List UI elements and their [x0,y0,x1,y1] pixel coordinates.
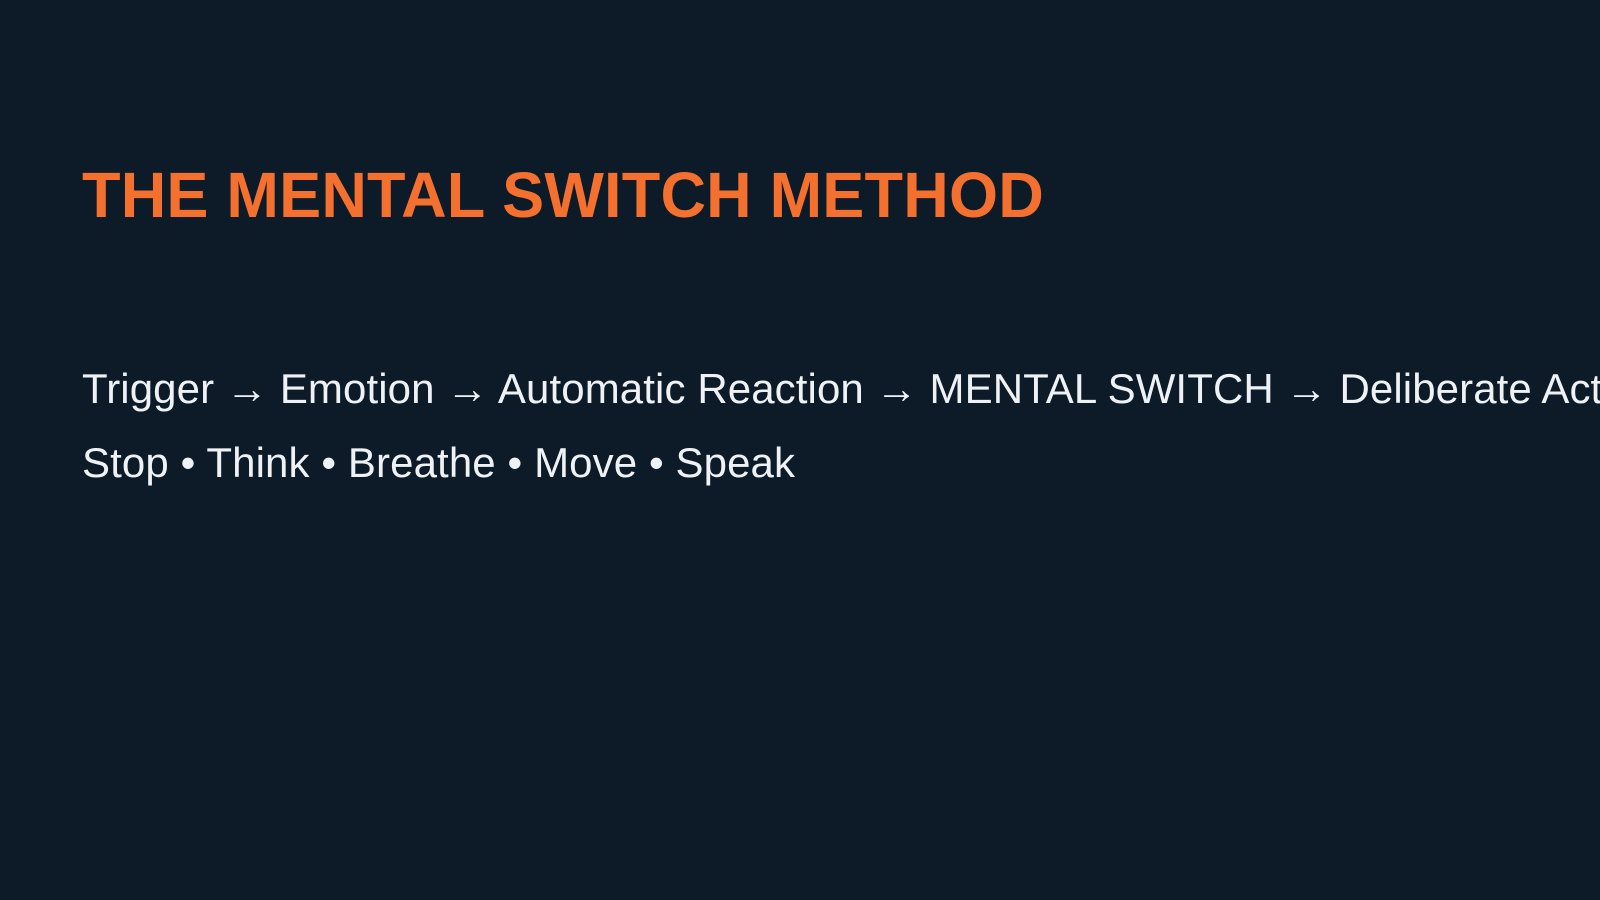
slide-body: Trigger → Emotion → Automatic Reaction →… [82,352,1542,500]
actions-line: Stop • Think • Breathe • Move • Speak [82,426,1542,500]
page-title: THE MENTAL SWITCH METHOD [82,163,1044,227]
sequence-line: Trigger → Emotion → Automatic Reaction →… [82,352,1542,426]
slide-canvas: THE MENTAL SWITCH METHOD Trigger → Emoti… [0,0,1600,900]
